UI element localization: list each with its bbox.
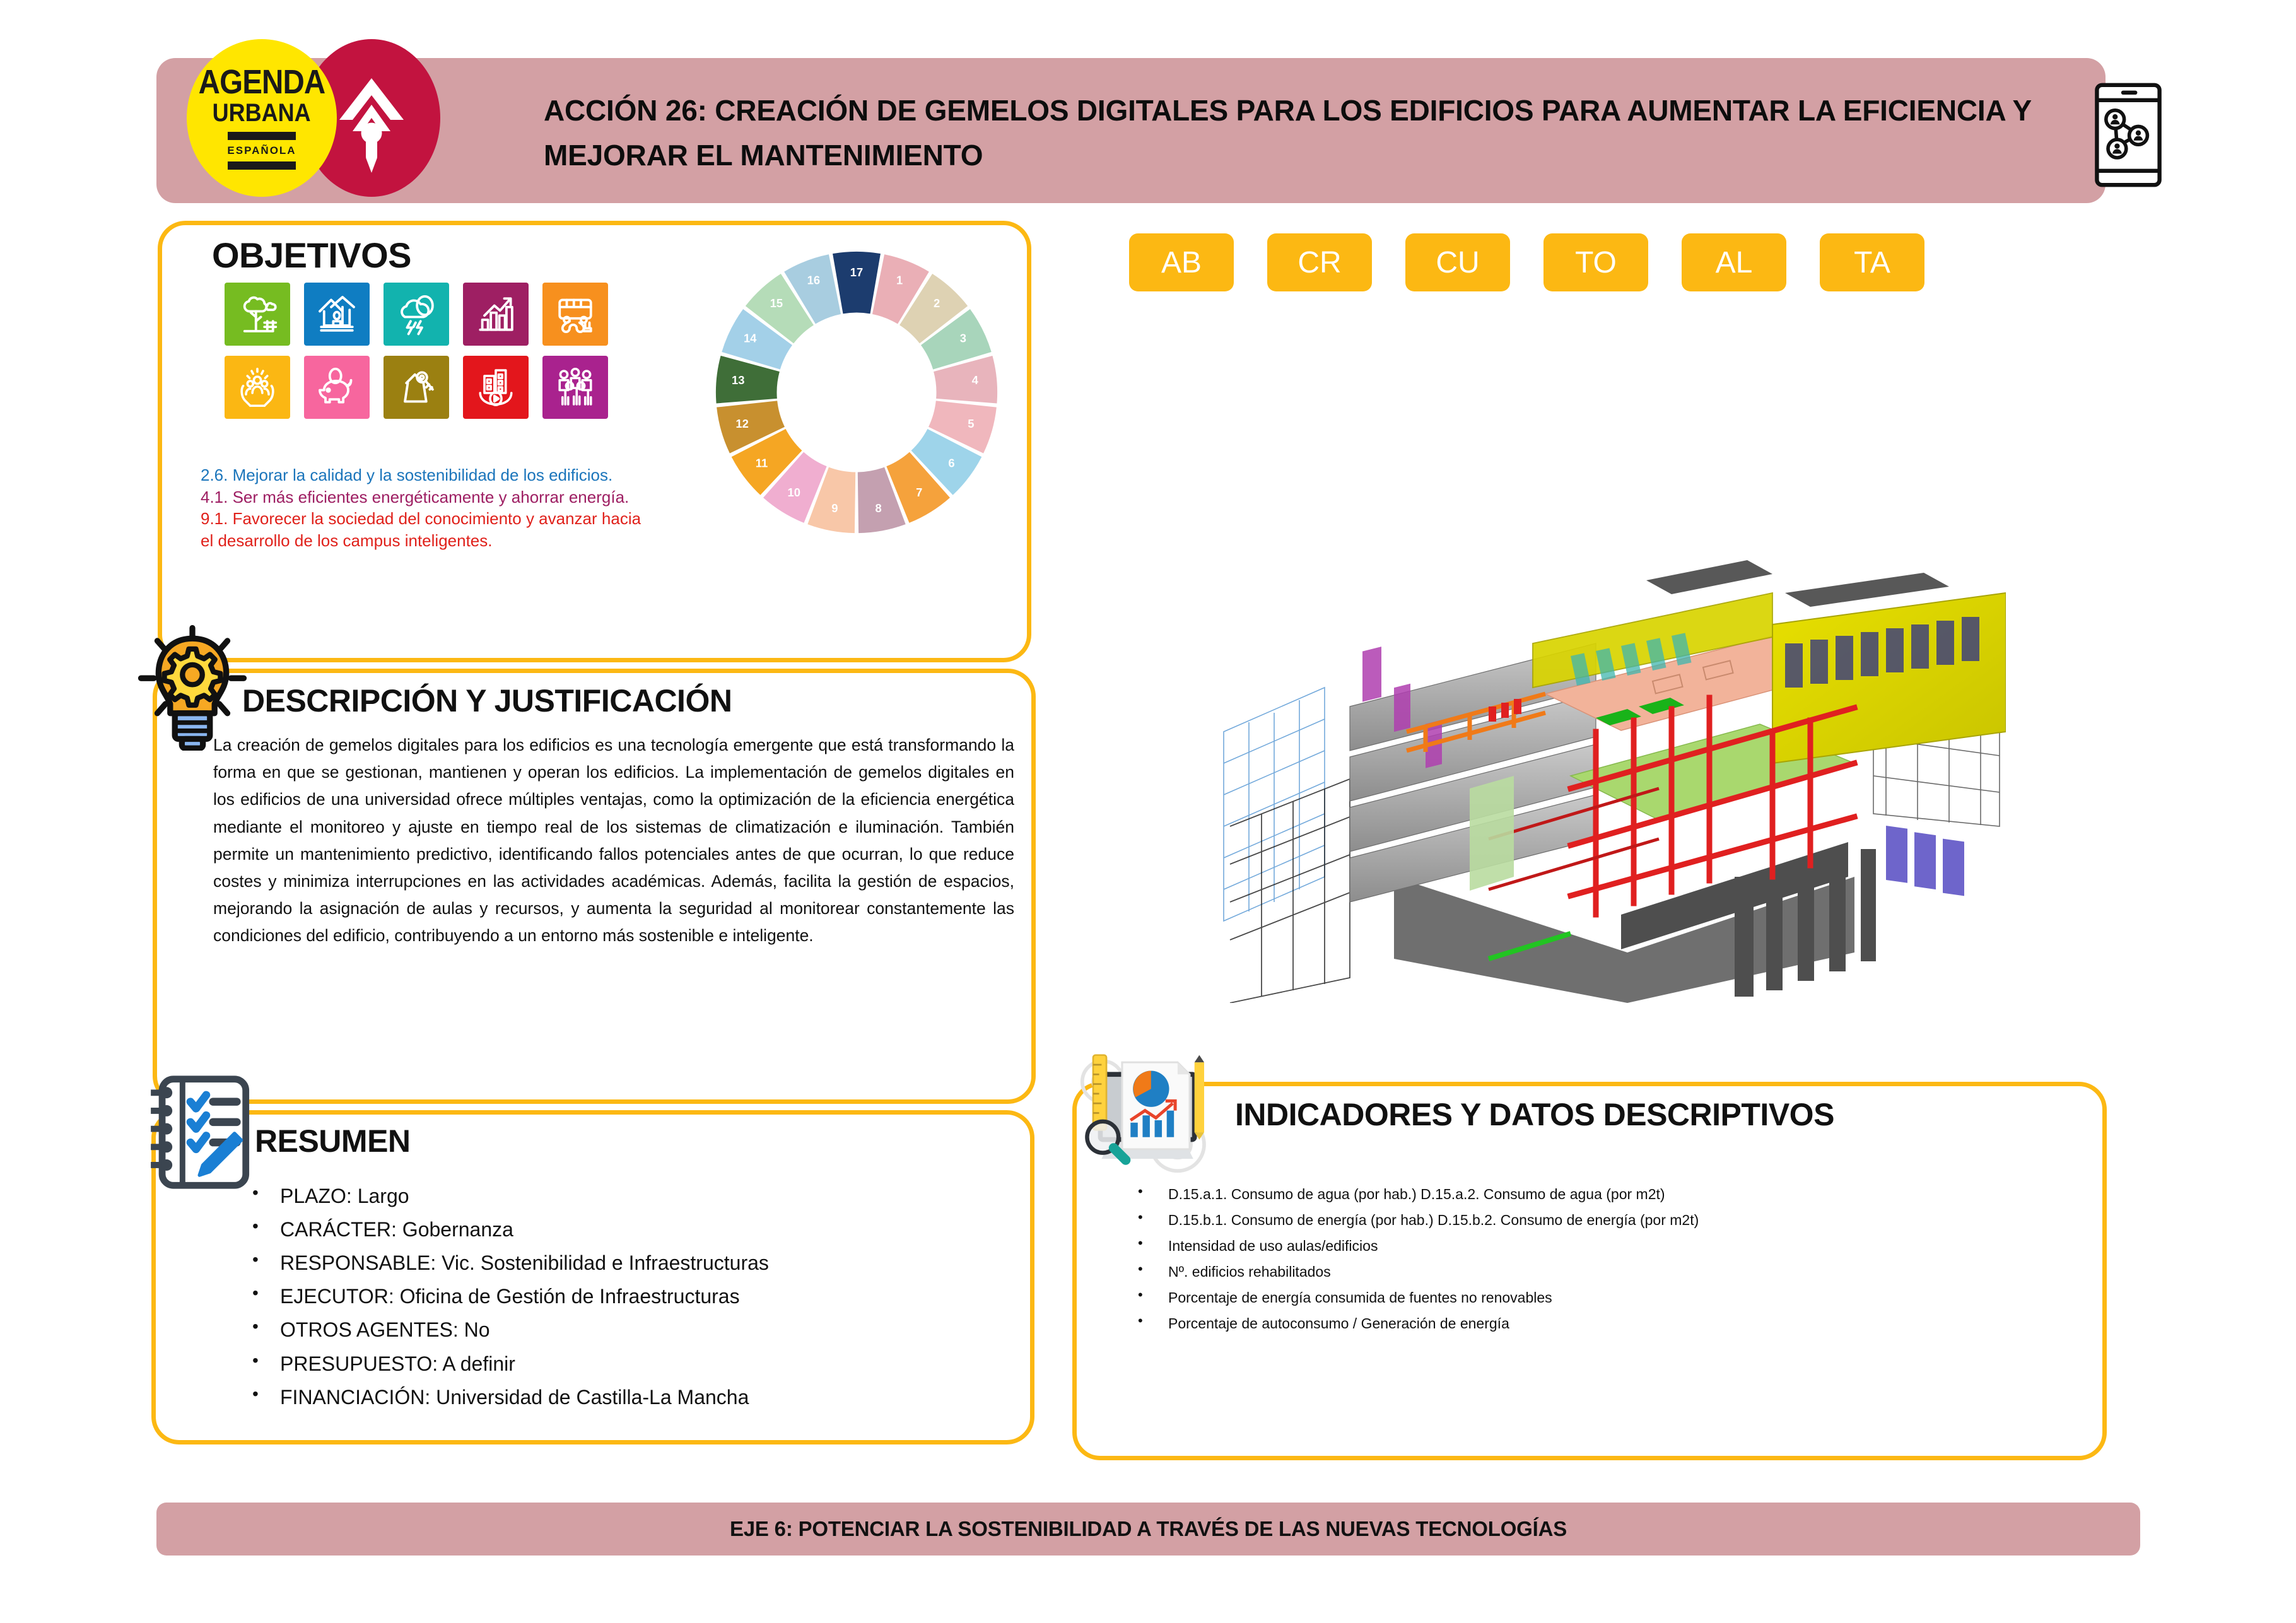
campus-tag-to[interactable]: TO: [1543, 233, 1648, 291]
park-tree-icon: [225, 283, 290, 346]
rocket-broadcast-icon: [324, 61, 419, 175]
footer-eje-label: EJE 6: POTENCIAR LA SOSTENIBILIDAD A TRA…: [156, 1503, 2140, 1556]
objetivos-goal-lines: 2.6. Mejorar la calidad y la sostenibili…: [201, 464, 958, 551]
descripcion-paragraph: La creación de gemelos digitales para lo…: [213, 732, 1014, 950]
list-item: RESPONSABLE: Vic. Sostenibilidad e Infra…: [241, 1246, 769, 1280]
campus-tag-cu[interactable]: CU: [1405, 233, 1510, 291]
agenda-urbana-logo: AGENDA URBANA ESPAÑOLA: [187, 39, 337, 197]
checklist-notepad-icon: [144, 1072, 257, 1192]
sdg-number-4: 4: [972, 373, 979, 387]
hands-people-icon: [225, 356, 290, 419]
objetivo-line-1: 2.6. Mejorar la calidad y la sostenibili…: [201, 464, 958, 486]
group-people-icon: [542, 356, 608, 419]
logo-line-3: ESPAÑOLA: [227, 144, 296, 157]
page-title: ACCIÓN 26: CREACIÓN DE GEMELOS DIGITALES…: [544, 88, 2045, 179]
smartphone-network-icon: [2093, 81, 2164, 189]
sdg-number-13: 13: [732, 373, 744, 387]
logo-line-1: AGENDA: [199, 62, 325, 102]
objetivos-title: OBJETIVOS: [212, 235, 411, 276]
sdg-number-12: 12: [735, 417, 748, 430]
campus-tag-al[interactable]: AL: [1682, 233, 1786, 291]
storm-cloud-icon: [384, 283, 449, 346]
sdg-number-5: 5: [968, 417, 974, 430]
bim-digital-twin-building-render: [1217, 435, 2006, 1003]
house-keys-icon: [384, 356, 449, 419]
list-item: Intensidad de uso aulas/edificios: [1129, 1233, 1699, 1259]
logo-line-2: URBANA: [213, 99, 311, 127]
list-item: CARÁCTER: Gobernanza: [241, 1213, 769, 1246]
sdg-number-17: 17: [850, 266, 863, 279]
resumen-list: PLAZO: Largo CARÁCTER: Gobernanza RESPON…: [241, 1180, 769, 1414]
list-item: PLAZO: Largo: [241, 1180, 769, 1213]
indicadores-title: INDICADORES Y DATOS DESCRIPTIVOS: [1235, 1096, 1834, 1133]
list-item: Nº. edificios rehabilitados: [1129, 1259, 1699, 1285]
objetivo-line-2: 4.1. Ser más eficientes energéticamente …: [201, 486, 958, 508]
sdg-number-2: 2: [934, 296, 940, 310]
list-item: FINANCIACIÓN: Universidad de Castilla-La…: [241, 1381, 769, 1414]
growth-chart-icon: [463, 283, 529, 346]
campus-tag-cr[interactable]: CR: [1267, 233, 1372, 291]
house-buildings-icon: [304, 283, 370, 346]
list-item: Porcentaje de energía consumida de fuent…: [1129, 1285, 1699, 1311]
list-item: Porcentaje de autoconsumo / Generación d…: [1129, 1311, 1699, 1337]
sdg-number-1: 1: [896, 274, 903, 287]
list-item: D.15.b.1. Consumo de energía (por hab.) …: [1129, 1207, 1699, 1233]
campus-tag-ta[interactable]: TA: [1820, 233, 1924, 291]
sdg-segment-17: [833, 252, 881, 313]
sdg-number-14: 14: [744, 332, 757, 345]
piggy-bank-icon: [304, 356, 370, 419]
logo-bar-bottom: [228, 161, 296, 170]
campus-tag-ab[interactable]: AB: [1129, 233, 1234, 291]
logo-bar-top: [228, 132, 296, 140]
objetivo-line-4: el desarrollo de los campus inteligentes…: [201, 530, 958, 552]
sdg-number-15: 15: [770, 296, 783, 310]
objetivo-line-3: 9.1. Favorecer la sociedad del conocimie…: [201, 508, 958, 530]
city-buildings-icon: [463, 356, 529, 419]
analytics-dashboard-icon: [1076, 1050, 1221, 1189]
sdg-number-3: 3: [960, 332, 966, 345]
campus-tag-list: AB CR CU TO AL TA: [1129, 233, 1924, 291]
descripcion-title: DESCRIPCIÓN Y JUSTIFICACIÓN: [242, 683, 732, 719]
indicadores-list: D.15.a.1. Consumo de agua (por hab.) D.1…: [1129, 1181, 1699, 1337]
list-item: OTROS AGENTES: No: [241, 1313, 769, 1347]
lightbulb-gear-icon: [132, 624, 252, 751]
sdg-number-16: 16: [807, 274, 820, 287]
list-item: PRESUPUESTO: A definir: [241, 1347, 769, 1381]
electric-bus-icon: [542, 283, 608, 346]
objetivos-icon-grid: [225, 283, 608, 419]
resumen-title: RESUMEN: [255, 1123, 411, 1159]
list-item: EJECUTOR: Oficina de Gestión de Infraest…: [241, 1280, 769, 1313]
